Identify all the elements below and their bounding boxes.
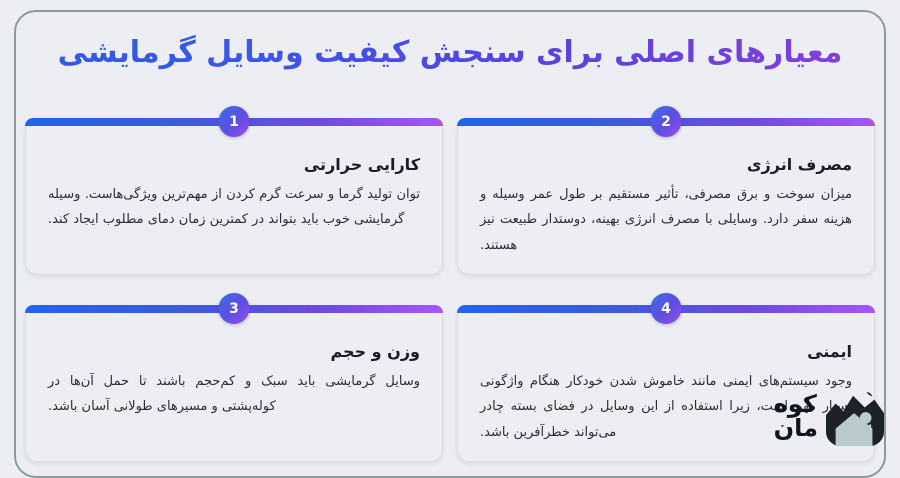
card-title: وزن و حجم (48, 340, 420, 364)
brand-name: کوه مان (774, 393, 818, 440)
card-body-text: میزان سوخت و برق مصرفی، تأثیر مستقیم بر … (480, 182, 852, 258)
card-number-badge: 1 (219, 106, 250, 137)
mountain-house-logo-icon (824, 386, 886, 448)
card-body-text: وسایل گرمایشی باید سبک و کم‌حجم باشند تا… (48, 369, 420, 420)
criteria-grid: 2 مصرف انرژی میزان سوخت و برق مصرفی، تأث… (0, 118, 900, 462)
brand-watermark: کوه مان (774, 386, 886, 448)
card-number-badge: 3 (219, 293, 250, 324)
criteria-card: 3 وزن و حجم وسایل گرمایشی باید سبک و کم‌… (25, 305, 443, 462)
card-title: کارایی حرارتی (48, 153, 420, 177)
card-title: مصرف انرژی (480, 153, 852, 177)
card-body-text: توان تولید گرما و سرعت گرم کردن از مهم‌ت… (48, 182, 420, 233)
card-number-badge: 2 (651, 106, 682, 137)
brand-name-line2: مان (774, 417, 818, 441)
criteria-card: 1 کارایی حرارتی توان تولید گرما و سرعت گ… (25, 118, 443, 275)
criteria-card: 2 مصرف انرژی میزان سوخت و برق مصرفی، تأث… (457, 118, 875, 275)
page-title: معیارهای اصلی برای سنجش کیفیت وسایل گرما… (0, 33, 900, 74)
card-number-badge: 4 (651, 293, 682, 324)
card-title: ایمنی (480, 340, 852, 364)
